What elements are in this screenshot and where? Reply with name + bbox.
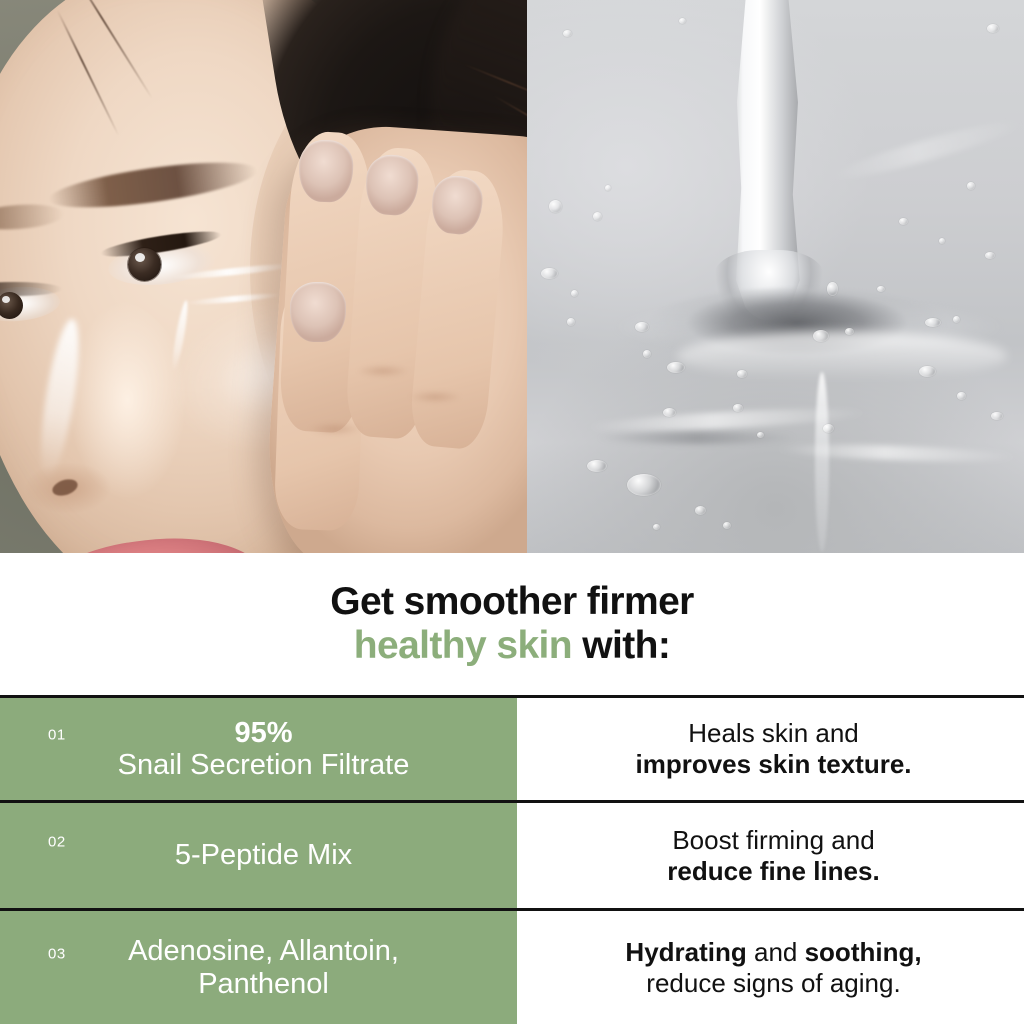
gel-bubble — [953, 316, 960, 323]
benefit-cell: Heals skin and improves skin texture. — [517, 698, 1024, 800]
table-row: 03 Adenosine, Allantoin, Panthenol Hydra… — [0, 908, 1024, 1024]
benefit-line-1: Hydrating and soothing, — [625, 937, 921, 968]
gel-bubble — [919, 366, 936, 377]
headline-accent-text: healthy skin — [354, 624, 572, 667]
benefit-conjunction: and — [747, 937, 805, 967]
ingredient-table: 01 95% Snail Secretion Filtrate Heals sk… — [0, 695, 1024, 1024]
benefit-line-1: Boost firming and — [667, 825, 879, 856]
gel-bubble — [967, 182, 975, 190]
gel-bubble — [549, 200, 562, 213]
table-row: 02 5-Peptide Mix Boost firming and reduc… — [0, 800, 1024, 908]
headline-line-2: healthy skin with: — [354, 624, 670, 668]
headline-block: Get smoother firmer healthy skin with: — [0, 553, 1024, 695]
knuckle-shadow — [400, 388, 470, 406]
gel-bubble — [627, 474, 661, 496]
benefit-text: Hydrating and soothing, reduce signs of … — [579, 937, 961, 998]
product-infographic: Jumiso Get smoother firmer healthy skin … — [0, 0, 1024, 1024]
knuckle-shadow — [300, 420, 370, 438]
gel-bubble — [939, 238, 945, 244]
benefit-line-2: reduce fine lines. — [667, 856, 879, 887]
gel-bubble — [563, 30, 572, 37]
gel-bubble — [667, 362, 685, 373]
gel-bubble — [663, 408, 676, 417]
gel-bubble — [957, 392, 966, 400]
gel-bubble — [925, 318, 941, 327]
gel-bubble — [643, 350, 651, 358]
gel-surface-sheen — [677, 332, 1007, 380]
ingredient-cell: 03 Adenosine, Allantoin, Panthenol — [0, 911, 517, 1024]
benefit-text: Heals skin and improves skin texture. — [590, 718, 952, 779]
knuckle-shadow — [348, 362, 418, 380]
gel-bubble — [541, 268, 558, 279]
gel-bubble — [823, 424, 834, 433]
ingredient-text: 5-Peptide Mix — [105, 839, 412, 871]
headline-line-1: Get smoother firmer — [330, 580, 694, 624]
benefit-bold-b: soothing, — [805, 937, 922, 967]
benefit-line-1: Heals skin and — [636, 718, 912, 749]
benefit-text: Boost firming and reduce fine lines. — [621, 825, 919, 886]
gel-drip-tail — [815, 372, 829, 552]
gel-bubble — [827, 282, 838, 296]
gel-shadow — [597, 432, 797, 444]
gel-bubble — [635, 322, 649, 332]
model-photo — [0, 0, 527, 553]
headline-tail-text: with: — [572, 624, 670, 667]
row-index: 01 — [48, 727, 66, 744]
ingredient-name: 5-Peptide Mix — [175, 839, 352, 871]
gel-bubble — [877, 286, 885, 292]
ingredient-percent: 95% — [118, 717, 410, 749]
gel-bubble — [653, 524, 660, 530]
benefit-line-2: reduce signs of aging. — [625, 968, 921, 999]
gel-bubble — [567, 318, 575, 326]
hero-photo-band: Jumiso — [0, 0, 1024, 553]
gel-bubble — [813, 330, 829, 342]
gel-bubble — [587, 460, 607, 472]
benefit-cell: Boost firming and reduce fine lines. — [517, 803, 1024, 908]
gel-bubble — [593, 212, 602, 221]
ingredient-name: Snail Secretion Filtrate — [118, 749, 410, 781]
model-fingernail — [290, 282, 346, 342]
serum-texture-photo: Jumiso — [527, 0, 1024, 553]
gel-bubble — [987, 24, 999, 33]
gel-bubble — [733, 404, 743, 412]
gel-bubble — [723, 522, 731, 529]
benefit-bold-a: Hydrating — [625, 937, 746, 967]
gel-bubble — [985, 252, 995, 259]
gel-bubble — [605, 185, 611, 191]
ingredient-text: 95% Snail Secretion Filtrate — [48, 717, 470, 782]
ingredient-text: Adenosine, Allantoin, Panthenol — [0, 935, 517, 1000]
table-row: 01 95% Snail Secretion Filtrate Heals sk… — [0, 695, 1024, 800]
benefit-cell: Hydrating and soothing, reduce signs of … — [517, 911, 1024, 1024]
gel-bubble — [679, 18, 686, 24]
row-index: 02 — [48, 833, 66, 850]
gel-bubble — [991, 412, 1003, 420]
ingredient-cell: 02 5-Peptide Mix — [0, 803, 517, 908]
row-index: 03 — [48, 945, 66, 962]
model-iris — [128, 248, 161, 281]
gel-bubble — [757, 432, 764, 438]
gel-bubble — [695, 506, 706, 515]
ingredient-cell: 01 95% Snail Secretion Filtrate — [0, 698, 517, 800]
gel-bubble — [737, 370, 747, 378]
gel-bubble — [899, 218, 908, 225]
ingredient-name: Adenosine, Allantoin, Panthenol — [70, 935, 457, 1000]
benefit-line-2: improves skin texture. — [636, 749, 912, 780]
gel-bubble — [845, 328, 854, 335]
gel-bubble — [571, 290, 578, 297]
